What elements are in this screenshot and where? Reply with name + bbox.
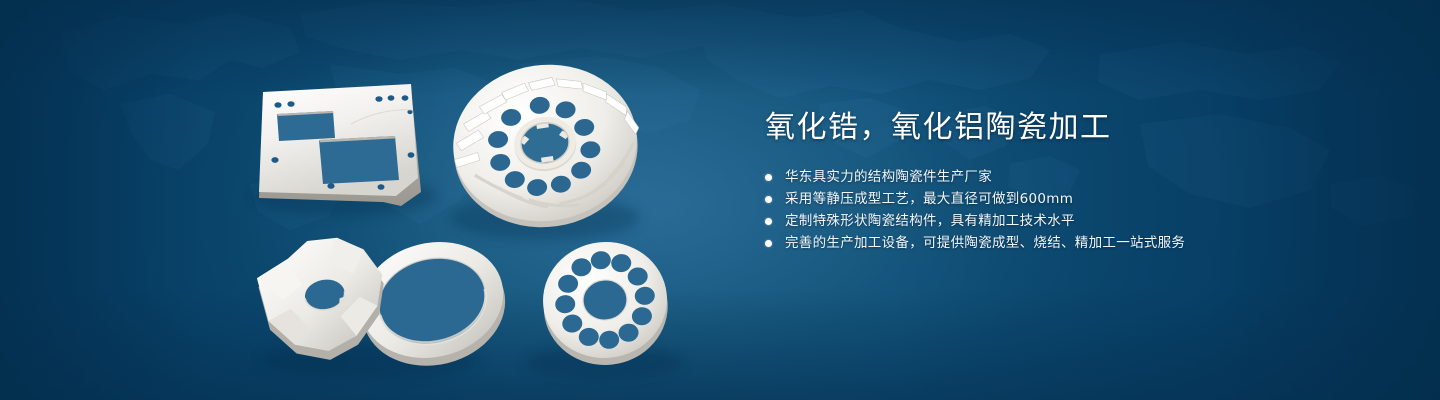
feature-text: 定制特殊形状陶瓷结构件，具有精加工技术水平 [785,214,1075,229]
bullet-dot-icon [765,196,772,203]
product-image-group [0,0,760,400]
list-item: 完善的生产加工设备，可提供陶瓷成型、烧结、精加工一站式服务 [765,236,1385,251]
bullet-dot-icon [765,218,772,225]
feature-text: 华东具实力的结构陶瓷件生产厂家 [785,170,992,185]
page-title: 氧化锆，氧化铝陶瓷加工 [765,108,1385,148]
banner-copy: 氧化锆，氧化铝陶瓷加工 华东具实力的结构陶瓷件生产厂家 采用等静压成型工艺，最大… [765,108,1385,258]
feature-text: 完善的生产加工设备，可提供陶瓷成型、烧结、精加工一站式服务 [785,236,1185,251]
bullet-dot-icon [765,174,772,181]
list-item: 华东具实力的结构陶瓷件生产厂家 [765,170,1385,185]
bullet-dot-icon [765,240,772,247]
list-item: 定制特殊形状陶瓷结构件，具有精加工技术水平 [765,214,1385,229]
list-item: 采用等静压成型工艺，最大直径可做到600mm [765,192,1385,207]
ceramic-plate-with-cutouts [259,84,421,206]
feature-list: 华东具实力的结构陶瓷件生产厂家 采用等静压成型工艺，最大直径可做到600mm 定… [765,170,1385,251]
hero-banner: 氧化锆，氧化铝陶瓷加工 华东具实力的结构陶瓷件生产厂家 采用等静压成型工艺，最大… [0,0,1440,400]
feature-text: 采用等静压成型工艺，最大直径可做到600mm [785,192,1073,207]
